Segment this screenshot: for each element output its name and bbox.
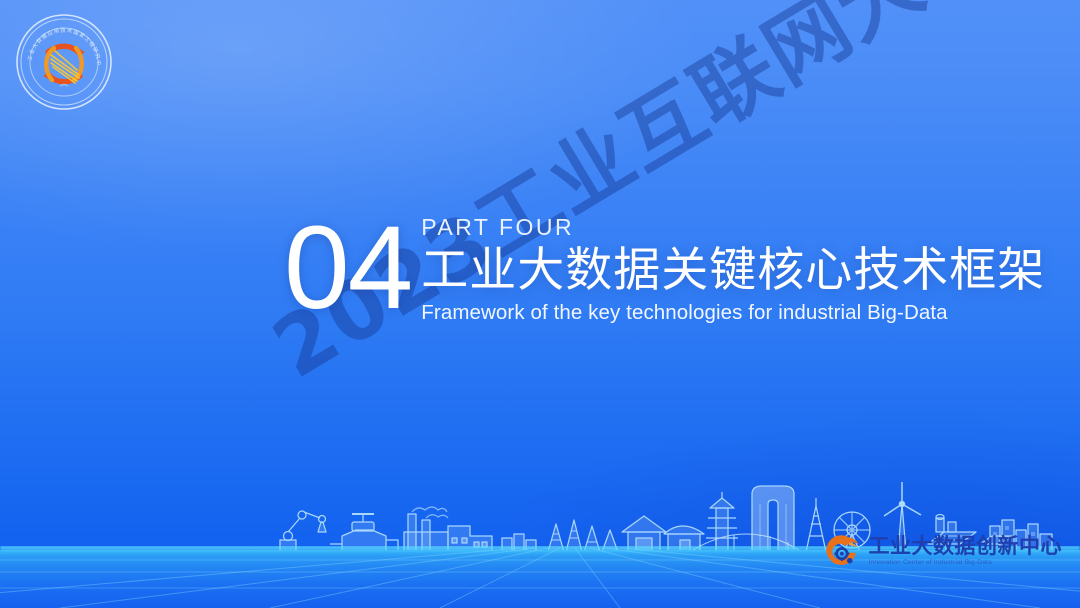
part-label: PART FOUR [421,216,1045,239]
presentation-slide: 工业大数据应用技术国家工程研究中心 [0,0,1080,608]
page-title: 工业大数据关键核心技术框架 [421,246,1045,296]
university-seal-logo: 工业大数据应用技术国家工程研究中心 [14,12,114,112]
innovation-center-mark-icon [820,530,862,572]
sponsor-name-en: Innovation Center of Industrial Big-Data [869,559,1063,567]
section-number: 04 [284,212,411,324]
pagoda-icon [706,492,738,552]
title-block: 04 PART FOUR 工业大数据关键核心技术框架 Framework of … [284,206,1045,325]
sponsor-name-cn: 工业大数据创新中心 [869,535,1063,557]
watermark-text: 2023工业互联网大会 [247,0,1015,401]
page-subtitle: Framework of the key technologies for in… [421,300,1045,326]
sponsor-logo: 工业大数据创新中心 Innovation Center of Industria… [820,530,1063,572]
sponsor-text-block: 工业大数据创新中心 Innovation Center of Industria… [869,535,1063,567]
